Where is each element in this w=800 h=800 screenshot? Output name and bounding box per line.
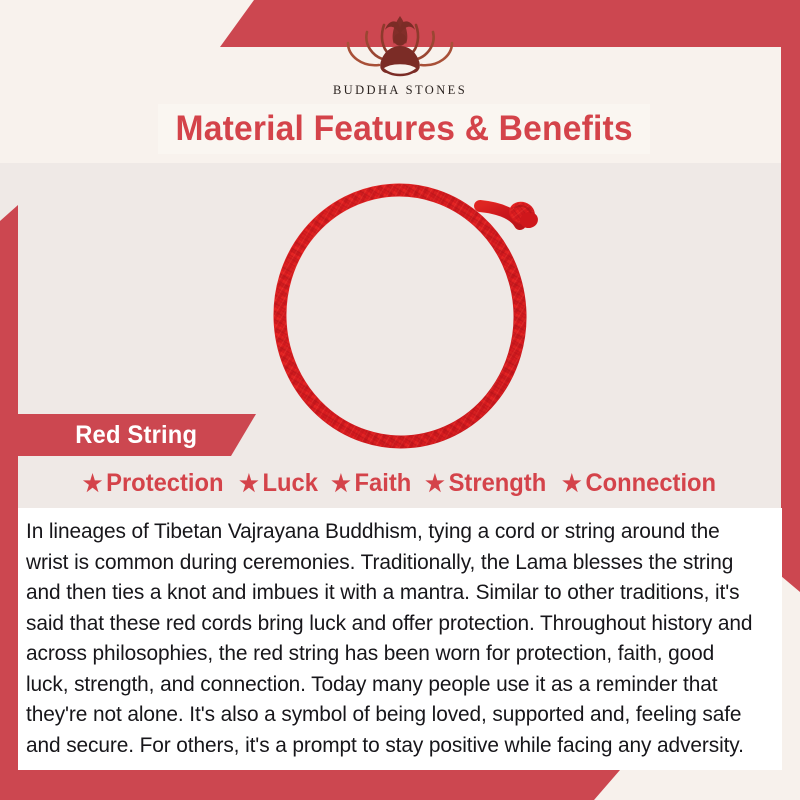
benefit-label: Protection xyxy=(107,469,224,498)
brand-logo: BUDDHA STONES xyxy=(0,10,800,98)
benefit-item: ★ Luck xyxy=(239,469,318,498)
benefit-label: Connection xyxy=(586,469,717,498)
description-panel: In lineages of Tibetan Vajrayana Buddhis… xyxy=(18,508,782,770)
star-icon: ★ xyxy=(425,472,445,495)
material-label: Red String xyxy=(75,421,197,450)
benefit-label: Luck xyxy=(262,469,317,498)
brand-name: BUDDHA STONES xyxy=(333,83,467,98)
star-icon: ★ xyxy=(239,472,259,495)
infographic-root: BUDDHA STONES Material Features & Benefi… xyxy=(0,0,800,800)
benefit-item: ★ Faith xyxy=(331,469,411,498)
star-icon: ★ xyxy=(562,472,582,495)
star-icon: ★ xyxy=(331,472,351,495)
material-label-ribbon: Red String xyxy=(0,414,256,456)
title-banner: Material Features & Benefits xyxy=(158,104,650,154)
benefit-label: Strength xyxy=(449,469,547,498)
page-title: Material Features & Benefits xyxy=(175,109,632,149)
description-text: In lineages of Tibetan Vajrayana Buddhis… xyxy=(26,516,757,760)
benefit-label: Faith xyxy=(354,469,411,498)
benefits-row: ★ Protection ★ Luck ★ Faith ★ Strength ★… xyxy=(0,463,800,503)
star-icon: ★ xyxy=(83,472,103,495)
benefit-item: ★ Protection xyxy=(83,469,224,498)
benefit-item: ★ Connection xyxy=(562,469,716,498)
benefit-item: ★ Strength xyxy=(425,469,546,498)
frame-accent-bottom xyxy=(0,770,620,800)
red-string-bracelet-illustration xyxy=(248,168,568,453)
product-image xyxy=(248,168,568,453)
lotus-meditation-icon xyxy=(334,10,466,82)
frame-accent-right xyxy=(781,47,800,592)
